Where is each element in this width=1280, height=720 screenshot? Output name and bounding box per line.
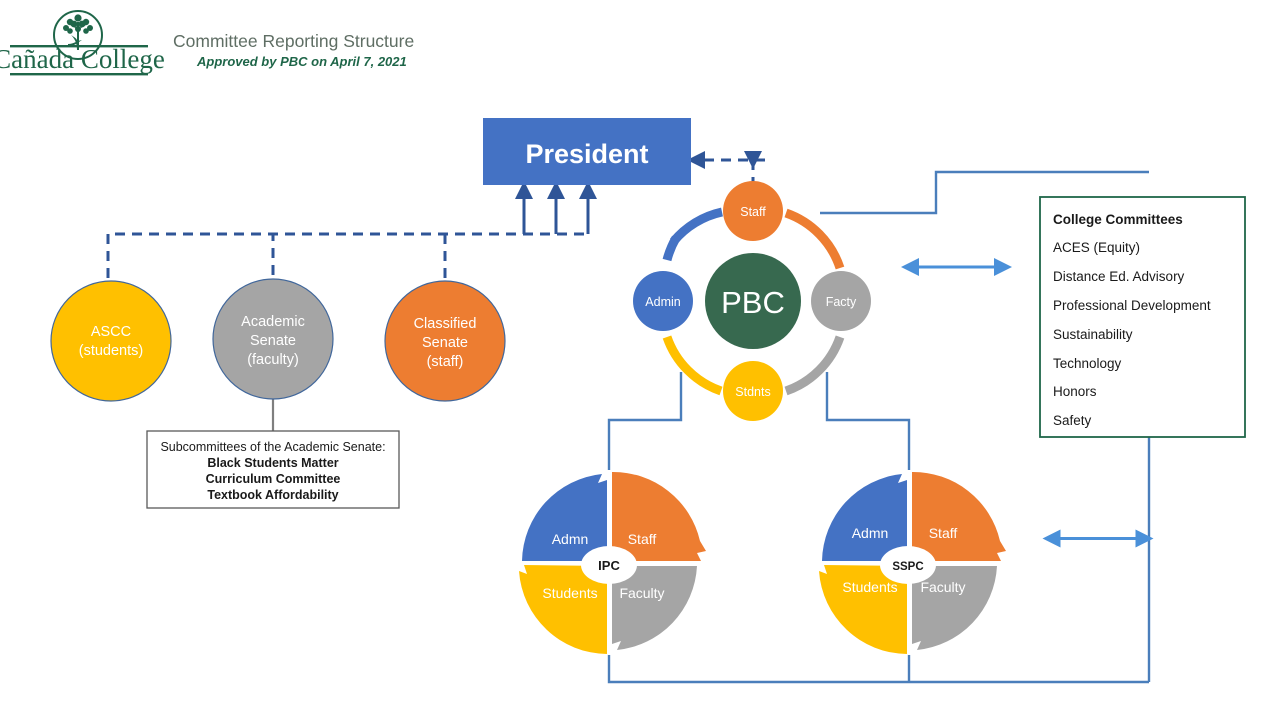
committee-item-aces[interactable]: ACES (Equity) xyxy=(1053,240,1140,255)
diagram-canvas: Cañada College Committee Reporting Struc… xyxy=(0,0,1280,720)
committee-item-technology[interactable]: Technology xyxy=(1053,356,1122,371)
committee-item-honors[interactable]: Honors xyxy=(1053,384,1097,399)
committee-item-professional-development[interactable]: Professional Development xyxy=(1053,298,1211,313)
college-committees-title: College Committees xyxy=(1053,212,1183,227)
college-committees-box: College Committees ACES (Equity) Distanc… xyxy=(0,0,1280,720)
committee-item-safety[interactable]: Safety xyxy=(1053,413,1092,428)
committee-item-sustainability[interactable]: Sustainability xyxy=(1053,327,1133,342)
committee-item-distance-ed[interactable]: Distance Ed. Advisory xyxy=(1053,269,1185,284)
